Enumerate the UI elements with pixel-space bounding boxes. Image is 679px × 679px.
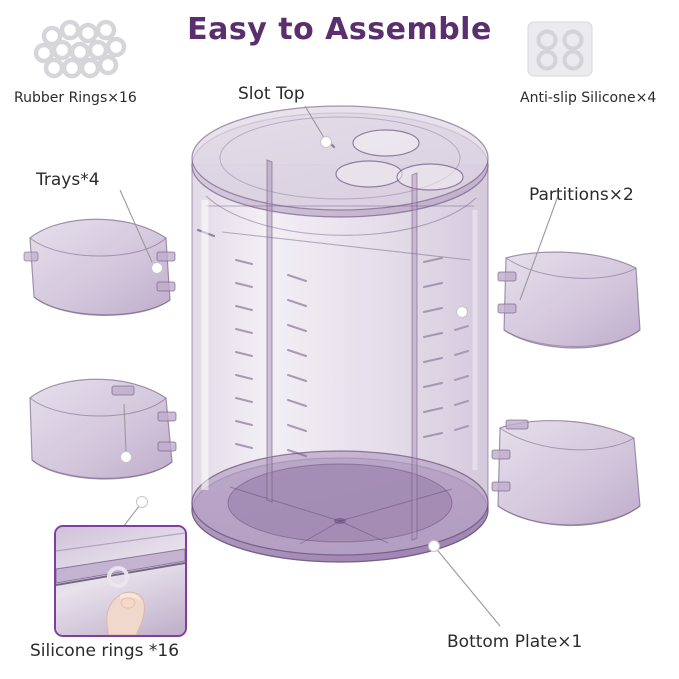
rubber-rings-part <box>36 22 124 76</box>
label-slot-top: Slot Top <box>238 84 305 104</box>
label-partitions: Partitions×2 <box>529 185 634 205</box>
partition-part-lower-right <box>492 420 640 526</box>
label-bottom-plate: Bottom Plate×1 <box>447 632 582 652</box>
label-silicone-rings: Silicone rings *16 <box>30 641 179 661</box>
label-rubber-rings: Rubber Rings×16 <box>14 90 137 106</box>
partition-part-upper-right <box>498 252 640 348</box>
inset-illustration <box>56 527 185 635</box>
anti-slip-silicone-part <box>528 22 592 76</box>
carousel-body <box>192 106 488 562</box>
tray-part-lower-left <box>30 379 176 479</box>
silicone-rings-inset-photo <box>54 525 187 637</box>
product-infographic: Easy to Assemble <box>0 0 679 679</box>
label-trays: Trays*4 <box>36 170 100 190</box>
label-anti-slip-silicone: Anti-slip Silicone×4 <box>520 90 656 106</box>
